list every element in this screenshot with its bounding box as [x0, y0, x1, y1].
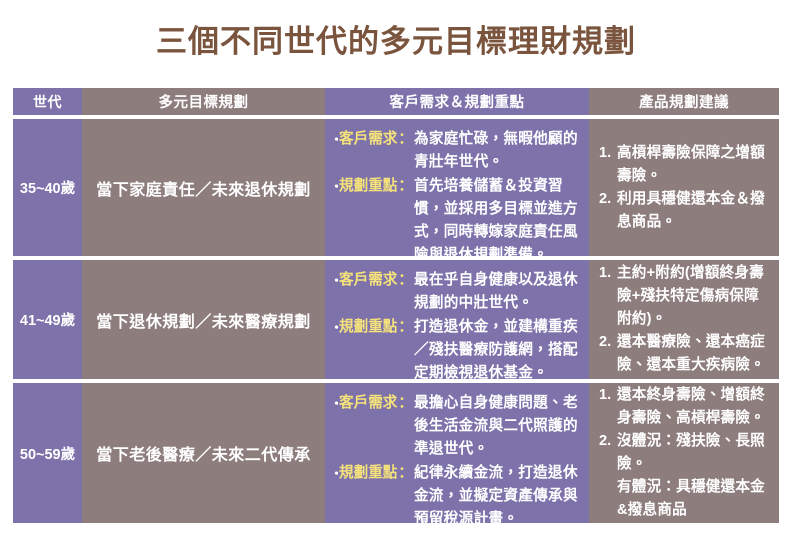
needs-block: ・ 客戶需求 ： 最擔心自身健康問題、老後生活金流與二代照護的準退世代。 ・ 規…: [330, 392, 583, 523]
needs-text: 最擔心自身健康問題、老後生活金流與二代照護的準退世代。: [414, 392, 583, 461]
list-item-number: 1.: [599, 142, 617, 165]
cell-multi-goal-planning: 當下老後醫療／未來二代傳承: [82, 383, 325, 523]
list-item-number: 1.: [599, 384, 617, 407]
bullet-icon: ・: [330, 128, 339, 151]
list-item-number: 2.: [599, 331, 617, 354]
needs-block: ・ 客戶需求 ： 最在乎自身健康以及退休規劃的中壯世代。 ・ 規劃重點 ： 打造…: [330, 269, 583, 379]
needs-label: 客戶需求: [339, 392, 397, 415]
bullet-icon: ・: [330, 316, 339, 339]
list-item-label: 有體況：具穩健還本金&撥息商品: [617, 476, 773, 522]
cell-product-recommendation: 1. 主約+附約(增額終身壽險+殘扶特定傷病保障附約)。 2. 還本醫療險、還本…: [589, 260, 779, 379]
cell-client-needs-and-focus: ・ 客戶需求 ： 最在乎自身健康以及退休規劃的中壯世代。 ・ 規劃重點 ： 打造…: [325, 260, 589, 379]
list-item-number: .: [599, 476, 617, 499]
cell-multi-goal-planning: 當下家庭責任／未來退休規劃: [82, 119, 325, 256]
table-row: 35~40歲 當下家庭責任／未來退休規劃 ・ 客戶需求 ： 為家庭忙碌，無暇他顧…: [13, 119, 779, 256]
list-item: 1. 主約+附約(增額終身壽險+殘扶特定傷病保障附約)。: [599, 262, 773, 331]
cell-generation: 50~59歲: [13, 383, 82, 523]
needs-block: ・ 客戶需求 ： 為家庭忙碌，無暇他顧的青壯年世代。 ・ 規劃重點 ： 首先培養…: [330, 128, 583, 256]
product-list: 1. 高槓桿壽險保障之增額壽險。 2. 利用具穩健還本金＆撥息商品。: [599, 142, 773, 234]
needs-label: 客戶需求: [339, 128, 397, 151]
page-title: 三個不同世代的多元目標理財規劃: [0, 22, 792, 62]
needs-text: 首先培養儲蓄＆投資習慣，並採用多目標並進方式，同時轉嫁家庭責任風險與退休規劃準備…: [414, 175, 583, 256]
list-item: 2. 利用具穩健還本金＆撥息商品。: [599, 188, 773, 234]
product-list: 1. 主約+附約(增額終身壽險+殘扶特定傷病保障附約)。 2. 還本醫療險、還本…: [599, 262, 773, 377]
needs-text: 打造退休金，並建構重疾／殘扶醫療防護網，搭配定期檢視退休基金。: [414, 316, 583, 379]
needs-item-planning-focus: ・ 規劃重點 ： 打造退休金，並建構重疾／殘扶醫療防護網，搭配定期檢視退休基金。: [330, 316, 583, 379]
needs-colon: ：: [397, 175, 414, 198]
product-list: 1. 還本終身壽險、增額終身壽險、高槓桿壽險。 2. 沒體況：殘扶險、長照險。 …: [599, 384, 773, 522]
cell-client-needs-and-focus: ・ 客戶需求 ： 最擔心自身健康問題、老後生活金流與二代照護的準退世代。 ・ 規…: [325, 383, 589, 523]
list-item-label: 高槓桿壽險保障之增額壽險。: [617, 142, 773, 188]
bullet-icon: ・: [330, 269, 339, 292]
cell-product-recommendation: 1. 高槓桿壽險保障之增額壽險。 2. 利用具穩健還本金＆撥息商品。: [589, 119, 779, 256]
needs-item-client-demand: ・ 客戶需求 ： 最在乎自身健康以及退休規劃的中壯世代。: [330, 269, 583, 315]
list-item-number: 2.: [599, 430, 617, 453]
list-item: 1. 還本終身壽險、增額終身壽險、高槓桿壽險。: [599, 384, 773, 430]
needs-text: 最在乎自身健康以及退休規劃的中壯世代。: [414, 269, 583, 315]
list-item-label: 還本終身壽險、增額終身壽險、高槓桿壽險。: [617, 384, 773, 430]
cell-client-needs-and-focus: ・ 客戶需求 ： 為家庭忙碌，無暇他顧的青壯年世代。 ・ 規劃重點 ： 首先培養…: [325, 119, 589, 256]
needs-label: 客戶需求: [339, 269, 397, 292]
bullet-icon: ・: [330, 392, 339, 415]
list-item-number: 2.: [599, 188, 617, 211]
table-row: 41~49歲 當下退休規劃／未來醫療規劃 ・ 客戶需求 ： 最在乎自身健康以及退…: [13, 260, 779, 379]
cell-generation: 41~49歲: [13, 260, 82, 379]
list-item-label: 主約+附約(增額終身壽險+殘扶特定傷病保障附約)。: [617, 262, 773, 331]
list-item: 2. 還本醫療險、還本癌症險、還本重大疾病險。: [599, 331, 773, 377]
list-item: . 有體況：具穩健還本金&撥息商品: [599, 476, 773, 522]
list-item-label: 還本醫療險、還本癌症險、還本重大疾病險。: [617, 331, 773, 377]
table-header-row: 世代 多元目標規劃 客戶需求＆規劃重點 產品規劃建議: [13, 88, 779, 115]
list-item-label: 利用具穩健還本金＆撥息商品。: [617, 188, 773, 234]
cell-generation: 35~40歲: [13, 119, 82, 256]
generation-planning-table: 世代 多元目標規劃 客戶需求＆規劃重點 產品規劃建議 35~40歲 當下家庭責任…: [13, 88, 779, 523]
needs-label: 規劃重點: [339, 175, 397, 198]
needs-text: 紀律永續金流，打造退休金流，並擬定資產傳承與預留稅源計畫。: [414, 462, 583, 523]
column-header-multi-goal-planning: 多元目標規劃: [82, 88, 325, 115]
column-header-product-recommendation: 產品規劃建議: [589, 88, 779, 115]
list-item: 2. 沒體況：殘扶險、長照險。: [599, 430, 773, 476]
needs-colon: ：: [397, 462, 414, 485]
needs-colon: ：: [397, 269, 414, 292]
needs-colon: ：: [397, 316, 414, 339]
needs-label: 規劃重點: [339, 316, 397, 339]
cell-product-recommendation: 1. 還本終身壽險、增額終身壽險、高槓桿壽險。 2. 沒體況：殘扶險、長照險。 …: [589, 383, 779, 523]
needs-colon: ：: [397, 128, 414, 151]
needs-item-planning-focus: ・ 規劃重點 ： 紀律永續金流，打造退休金流，並擬定資產傳承與預留稅源計畫。: [330, 462, 583, 523]
slide-canvas: 三個不同世代的多元目標理財規劃 世代 多元目標規劃 客戶需求＆規劃重點 產品規劃…: [0, 0, 792, 555]
list-item-number: 1.: [599, 262, 617, 285]
needs-colon: ：: [397, 392, 414, 415]
column-header-client-needs-and-focus: 客戶需求＆規劃重點: [325, 88, 589, 115]
column-header-generation: 世代: [13, 88, 82, 115]
needs-label: 規劃重點: [339, 462, 397, 485]
list-item: 1. 高槓桿壽險保障之增額壽險。: [599, 142, 773, 188]
needs-item-client-demand: ・ 客戶需求 ： 最擔心自身健康問題、老後生活金流與二代照護的準退世代。: [330, 392, 583, 461]
needs-text: 為家庭忙碌，無暇他顧的青壯年世代。: [414, 128, 583, 174]
bullet-icon: ・: [330, 175, 339, 198]
needs-item-planning-focus: ・ 規劃重點 ： 首先培養儲蓄＆投資習慣，並採用多目標並進方式，同時轉嫁家庭責任…: [330, 175, 583, 256]
bullet-icon: ・: [330, 462, 339, 485]
table-row: 50~59歲 當下老後醫療／未來二代傳承 ・ 客戶需求 ： 最擔心自身健康問題、…: [13, 383, 779, 523]
needs-item-client-demand: ・ 客戶需求 ： 為家庭忙碌，無暇他顧的青壯年世代。: [330, 128, 583, 174]
cell-multi-goal-planning: 當下退休規劃／未來醫療規劃: [82, 260, 325, 379]
list-item-label: 沒體況：殘扶險、長照險。: [617, 430, 773, 476]
